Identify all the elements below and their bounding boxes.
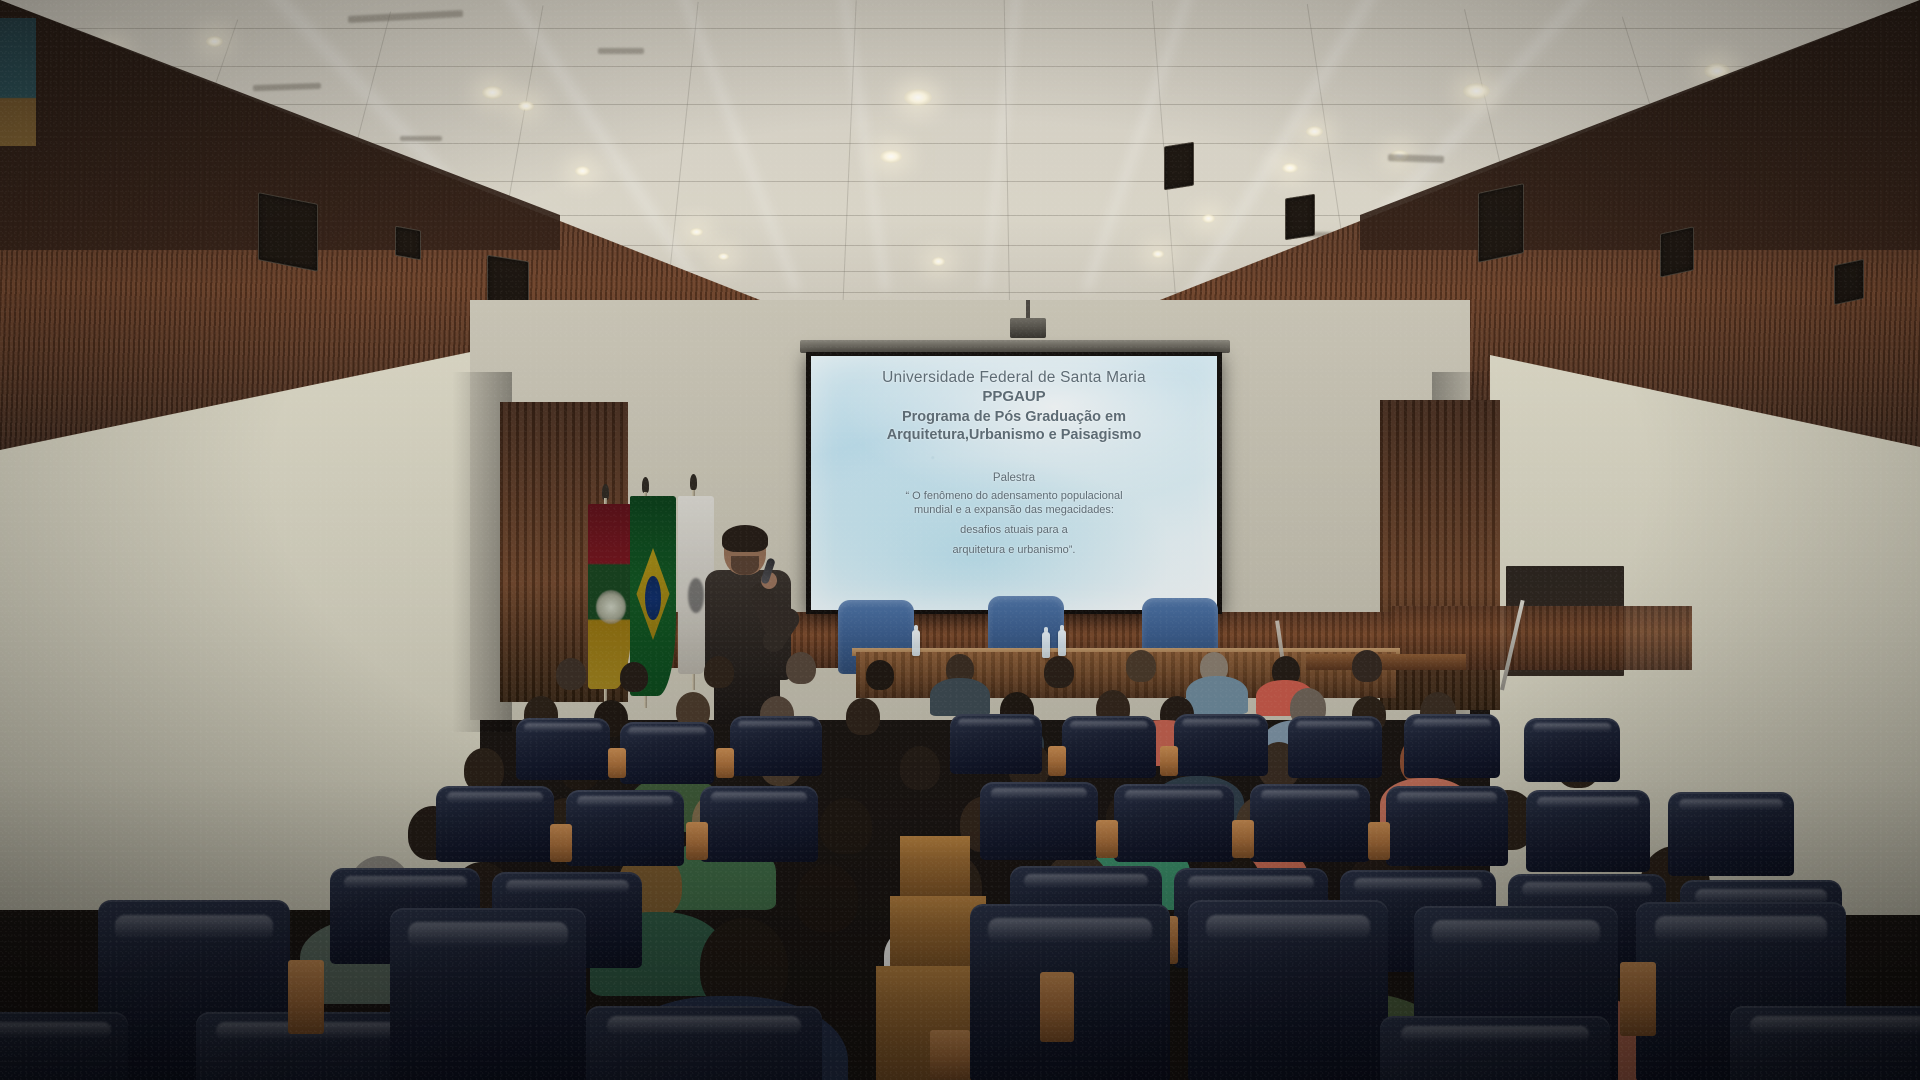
slide-talk-line-4: arquitetura e urbanismo”.	[953, 544, 1076, 556]
auditorium-seat	[1404, 714, 1500, 778]
seat-armrest	[608, 748, 626, 778]
auditorium-seat	[1380, 1016, 1610, 1080]
wall-art-panel	[0, 18, 36, 146]
wall-vent	[1660, 226, 1694, 277]
auditorium-seat	[620, 722, 714, 784]
auditorium-seat	[980, 782, 1098, 860]
ceiling-light	[1282, 163, 1298, 173]
auditorium-seat	[1114, 784, 1234, 862]
wall-vent	[1164, 142, 1194, 191]
wall-vent	[1478, 183, 1524, 263]
ceiling-light	[880, 150, 902, 163]
audience-body	[1186, 676, 1248, 714]
auditorium-seat	[1062, 716, 1156, 778]
ceiling-light	[518, 101, 534, 111]
projector-mount	[1026, 300, 1030, 320]
slide-program-acronym: PPGAUP	[982, 389, 1045, 406]
audience-body	[930, 678, 990, 716]
wall-vent	[258, 192, 318, 272]
presenter-hair	[722, 525, 768, 552]
ceiling-light	[1152, 250, 1164, 258]
seat-armrest	[1040, 972, 1074, 1042]
slide-event-type: Palestra	[993, 472, 1035, 485]
wall-vent	[1285, 194, 1315, 241]
ceiling-light	[1463, 83, 1490, 99]
wall-vent	[1834, 259, 1864, 305]
seat-armrest	[716, 748, 734, 778]
ceiling-light	[932, 257, 945, 266]
auditorium-seat	[436, 786, 554, 862]
slide-talk-line-3: desafios atuais para a	[960, 524, 1068, 536]
slide-talk-line-1: “ O fenômeno do adensamento populacional	[905, 490, 1122, 502]
ceiling-light	[575, 166, 590, 176]
slide-talk-line-2: mundial e a expansão das megacidades:	[914, 504, 1114, 516]
ceiling-light	[718, 253, 729, 260]
audience-head	[556, 658, 586, 690]
ceiling-vent	[598, 48, 644, 54]
ceiling-vent	[400, 136, 442, 141]
auditorium-seat	[1668, 792, 1794, 876]
ceiling-projector	[1010, 318, 1046, 338]
auditorium-seat	[1386, 786, 1508, 866]
auditorium-seat	[950, 714, 1042, 774]
seat-armrest	[550, 824, 572, 862]
ceiling-light	[206, 36, 223, 47]
seat-armrest	[1620, 962, 1656, 1036]
seat-armrest	[1368, 822, 1390, 860]
auditorium-seat	[1174, 714, 1268, 776]
audience-head	[866, 660, 894, 690]
auditorium-seat	[1188, 900, 1388, 1080]
auditorium-seat	[1250, 784, 1370, 862]
seat-armrest	[1232, 820, 1254, 858]
ceiling-light	[1202, 214, 1215, 223]
auditorium-seat	[516, 718, 610, 780]
ceiling-light	[482, 86, 503, 99]
audience-head	[846, 698, 880, 735]
audience-head	[820, 798, 872, 854]
ceiling-light	[690, 228, 703, 236]
seat-armrest	[1096, 820, 1118, 858]
auditorium-seat	[1526, 790, 1650, 872]
audience-head	[1044, 656, 1074, 688]
slide-program-line-2: Arquitetura,Urbanismo e Paisagismo	[887, 427, 1142, 443]
audience-head	[704, 656, 734, 688]
audience-head	[900, 746, 940, 790]
audience-head	[796, 864, 858, 932]
audience-head	[620, 662, 648, 692]
presenter-beard	[731, 556, 759, 575]
seat-armrest	[288, 960, 324, 1034]
seat-armrest	[1160, 746, 1178, 776]
auditorium-seat	[1288, 716, 1382, 778]
audience-head	[786, 652, 816, 684]
ceiling-light	[1306, 126, 1323, 137]
auditorium-seat	[1730, 1006, 1920, 1080]
auditorium-photo: Universidade Federal de Santa Maria PPGA…	[0, 0, 1920, 1080]
seat-armrest	[930, 1030, 970, 1080]
auditorium-seat	[0, 1012, 128, 1080]
auditorium-seat	[700, 786, 818, 862]
center-aisle	[900, 836, 970, 896]
auditorium-seat	[1524, 718, 1620, 782]
seat-armrest	[686, 822, 708, 860]
wall-vent	[395, 226, 421, 261]
seat-armrest	[1048, 746, 1066, 776]
projection-screen: Universidade Federal de Santa Maria PPGA…	[811, 356, 1217, 610]
ceiling-light	[904, 89, 932, 106]
auditorium-seat	[390, 908, 586, 1080]
auditorium-seat	[730, 716, 822, 776]
audience-head	[1352, 650, 1382, 682]
auditorium-seat	[566, 790, 684, 866]
slide-university-line: Universidade Federal de Santa Maria	[882, 369, 1146, 386]
audience-head	[1126, 650, 1156, 682]
auditorium-seat	[586, 1006, 822, 1080]
slide-program-line-1: Programa de Pós Graduação em	[902, 409, 1126, 425]
projection-screen-frame: Universidade Federal de Santa Maria PPGA…	[806, 352, 1222, 614]
